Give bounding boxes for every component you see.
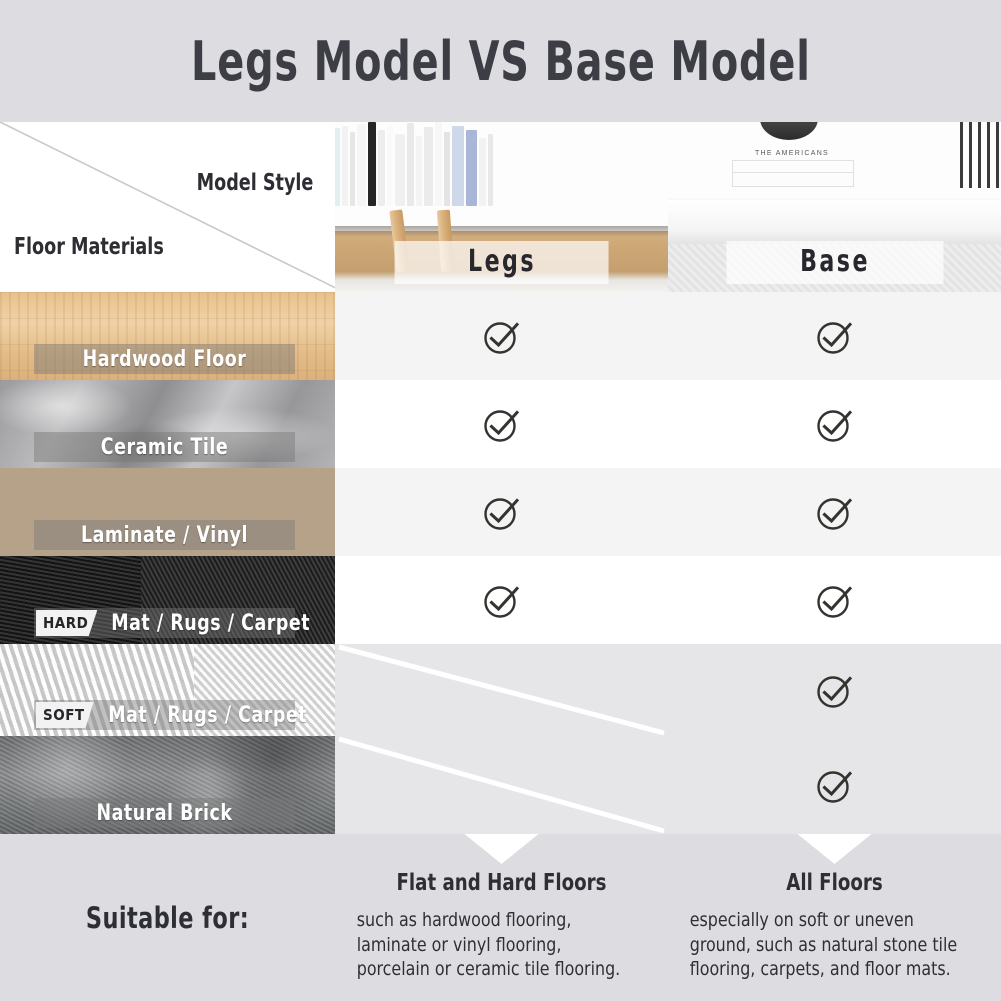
material-row-soft-carpet: SOFT Mat / Rugs / Carpet — [0, 644, 335, 736]
check-icon — [812, 489, 858, 535]
material-name: Hardwood Floor — [50, 347, 280, 372]
cell-base-natural-brick — [668, 736, 1001, 834]
cell-base-hard-carpet — [668, 556, 1001, 644]
material-row-natural-brick: Natural Brick — [0, 736, 335, 834]
title-bar: Legs Model VS Base Model — [0, 0, 1001, 122]
book-title-text: THE AMERICANS — [740, 150, 844, 157]
shelf-body: THE AMERICANS — [668, 122, 1001, 198]
material-label-bar: Hardwood Floor — [34, 344, 295, 374]
check-icon — [812, 667, 858, 713]
legs-caption-text: Legs — [468, 244, 536, 279]
cell-base-laminate — [668, 468, 1001, 556]
table-corner-header: Model Style Floor Materials — [0, 122, 335, 292]
material-row-hard-carpet: HARD Mat / Rugs / Carpet — [0, 556, 335, 644]
check-icon — [479, 489, 525, 535]
chevron-down-icon — [465, 834, 539, 864]
chevron-down-icon — [798, 834, 872, 864]
material-name: Ceramic Tile — [50, 435, 280, 460]
material-label-bar: SOFT Mat / Rugs / Carpet — [34, 700, 295, 730]
material-row-ceramic: Ceramic Tile — [0, 380, 335, 468]
material-name: Laminate / Vinyl — [50, 523, 280, 548]
check-icon — [479, 577, 525, 623]
material-label-bar: Natural Brick — [34, 798, 295, 828]
not-supported-slash-icon — [335, 644, 668, 736]
footer-base-cell: All Floors especially on soft or uneven … — [668, 834, 1001, 1001]
cell-legs-hardwood — [335, 292, 668, 380]
cell-base-hardwood — [668, 292, 1001, 380]
legs-caption-bar: Legs — [394, 241, 609, 284]
material-label-bar: Laminate / Vinyl — [34, 520, 295, 550]
footer-legs-body: such as hardwood flooring, laminate or v… — [353, 908, 629, 982]
cell-legs-hard-carpet — [335, 556, 668, 644]
column-header-base: THE AMERICANS Base — [668, 122, 1001, 292]
corner-diagonal-divider — [0, 122, 335, 292]
plinth-base — [668, 200, 1001, 244]
footer-base-heading: All Floors — [704, 870, 965, 896]
hardness-tag-soft: SOFT — [36, 702, 94, 728]
cell-legs-natural-brick — [335, 736, 668, 834]
check-icon — [479, 401, 525, 447]
cell-base-soft-carpet — [668, 644, 1001, 736]
check-icon — [812, 762, 858, 808]
cell-base-ceramic — [668, 380, 1001, 468]
column-header-legs: Legs — [335, 122, 668, 292]
material-name: Mat / Rugs / Carpet — [112, 611, 321, 636]
comparison-infographic: Legs Model VS Base Model Model Style Flo… — [0, 0, 1001, 1001]
book-stack — [732, 134, 852, 182]
shelf-shadow — [335, 226, 668, 236]
vertical-book-row — [960, 122, 1001, 188]
material-row-hardwood: Hardwood Floor — [0, 292, 335, 380]
comparison-table: Model Style Floor Materials — [0, 122, 1001, 834]
footer-legs-heading: Flat and Hard Floors — [371, 870, 632, 896]
not-supported-slash-icon — [335, 736, 668, 834]
material-label-bar: HARD Mat / Rugs / Carpet — [34, 608, 295, 638]
material-label-bar: Ceramic Tile — [34, 432, 295, 462]
footer-suitable-label-cell: Suitable for: — [0, 834, 335, 1001]
footer-legs-cell: Flat and Hard Floors such as hardwood fl… — [335, 834, 668, 1001]
suitable-for-label: Suitable for: — [39, 834, 296, 1001]
hardness-tag-hard: HARD — [36, 610, 97, 636]
check-icon — [479, 313, 525, 359]
book-row — [335, 122, 493, 206]
base-caption-bar: Base — [726, 241, 943, 284]
model-style-label: Model Style — [196, 170, 313, 196]
material-name: Natural Brick — [50, 801, 280, 826]
material-name: Mat / Rugs / Carpet — [108, 703, 317, 728]
shelf-body — [335, 122, 668, 231]
cell-legs-soft-carpet — [335, 644, 668, 736]
material-row-laminate: Laminate / Vinyl — [0, 468, 335, 556]
page-title: Legs Model VS Base Model — [191, 30, 811, 93]
cell-legs-laminate — [335, 468, 668, 556]
check-icon — [812, 313, 858, 359]
cell-legs-ceramic — [335, 380, 668, 468]
base-caption-text: Base — [800, 244, 870, 279]
check-icon — [812, 577, 858, 623]
floor-materials-label: Floor Materials — [14, 234, 164, 260]
footer-base-body: especially on soft or uneven ground, suc… — [686, 908, 962, 982]
check-icon — [812, 401, 858, 447]
footer-section: Suitable for: Flat and Hard Floors such … — [0, 834, 1001, 1001]
